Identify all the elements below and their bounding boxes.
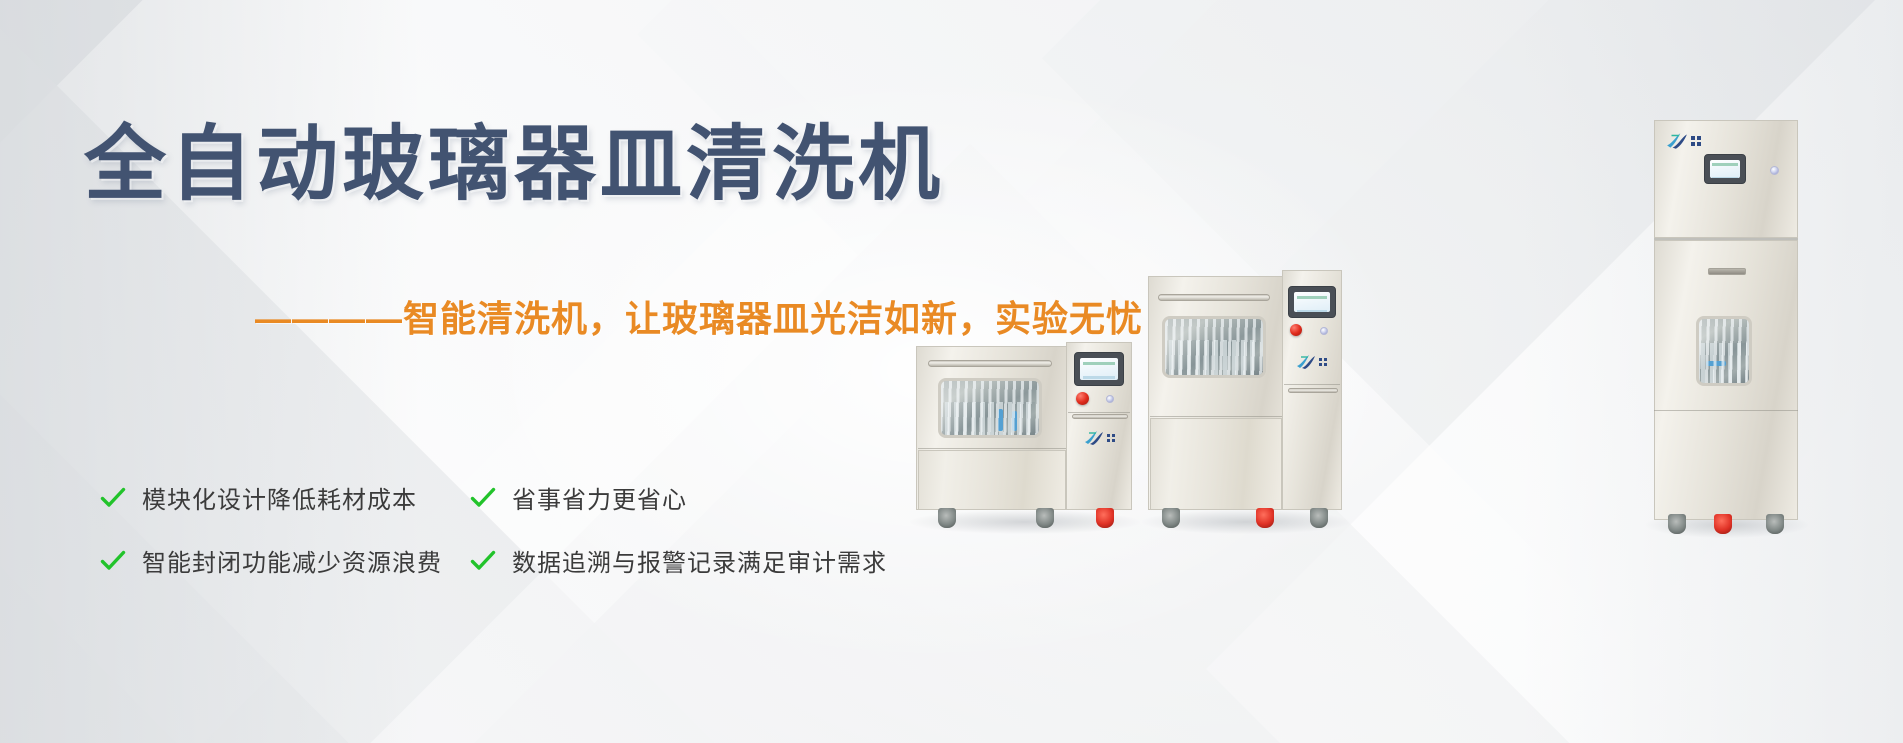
logo-dots <box>1691 136 1701 146</box>
product-image-tall-column-washer <box>1654 120 1798 520</box>
dispenser-slot <box>1708 268 1746 275</box>
caster-wheel <box>1668 514 1686 534</box>
emergency-stop-icon[interactable] <box>1076 392 1089 405</box>
chamber-viewing-window <box>1162 316 1266 378</box>
panel-seam <box>918 448 1066 449</box>
caster-wheel <box>1096 508 1114 528</box>
door-handle <box>928 360 1052 367</box>
caster-wheel <box>1310 508 1328 528</box>
touchscreen-display <box>1294 292 1330 312</box>
blue-nozzle <box>998 409 1003 431</box>
emergency-stop-icon[interactable] <box>1290 324 1302 336</box>
blue-nozzle <box>1706 361 1726 366</box>
lower-door-panel <box>1150 418 1282 510</box>
caster-wheel <box>1036 508 1054 528</box>
touchscreen-panel[interactable] <box>1288 286 1336 318</box>
product-image-undercounter-washer <box>916 338 1132 518</box>
chamber-viewing-window <box>938 378 1042 438</box>
panel-seam <box>1284 384 1340 385</box>
panel-seam <box>1068 412 1130 413</box>
brand-logo-icon <box>1296 354 1327 370</box>
product-banner: 全自动玻璃器皿清洗机 ————智能清洗机，让玻璃器皿光洁如新，实验无忧！ 模块化… <box>0 0 1903 743</box>
panel-seam <box>1150 416 1282 417</box>
service-door-handle <box>1288 388 1338 393</box>
caster-wheel <box>1256 508 1274 528</box>
caster-wheel <box>1162 508 1180 528</box>
blue-nozzle <box>1012 411 1017 431</box>
product-image-freestanding-washer <box>1148 276 1342 518</box>
panel-seam <box>1654 410 1798 411</box>
logo-dots <box>1319 358 1327 366</box>
glassware-load <box>1169 340 1259 375</box>
logo-dots <box>1107 434 1115 442</box>
touchscreen-panel[interactable] <box>1704 154 1746 184</box>
caster-wheel <box>938 508 956 528</box>
touchscreen-display <box>1710 160 1740 178</box>
touchscreen-panel[interactable] <box>1074 352 1124 386</box>
touchscreen-display <box>1080 358 1118 380</box>
brand-logo-icon <box>1084 430 1115 446</box>
chamber-viewing-window <box>1696 316 1752 386</box>
caster-wheel <box>1714 514 1732 534</box>
indicator-light-icon <box>1106 395 1114 403</box>
indicator-light-icon <box>1770 166 1779 175</box>
service-door-handle <box>1072 414 1128 419</box>
indicator-light-icon <box>1320 327 1328 335</box>
brand-logo-icon <box>1666 132 1701 150</box>
door-handle <box>1158 294 1270 301</box>
lower-door-panel <box>918 450 1066 510</box>
glassware-load <box>1701 343 1747 383</box>
glassware-load <box>945 402 1035 435</box>
caster-wheel <box>1766 514 1784 534</box>
product-photos <box>0 0 1903 743</box>
